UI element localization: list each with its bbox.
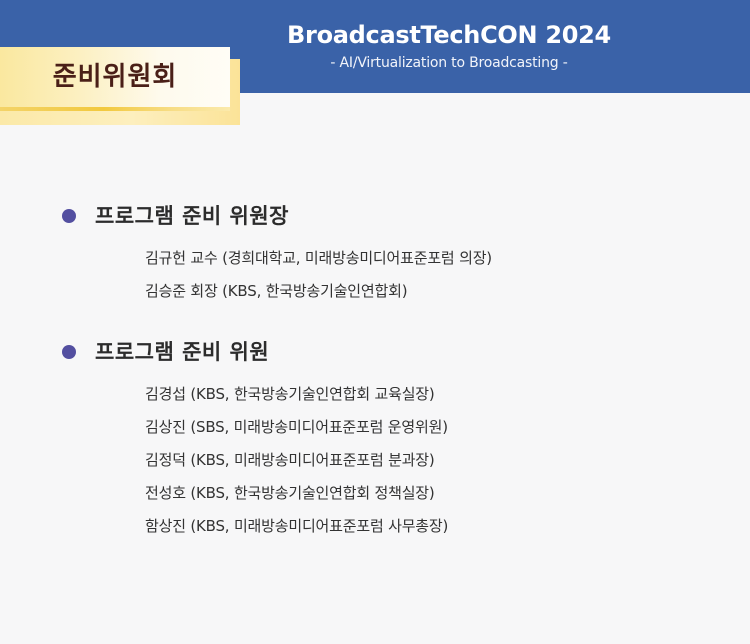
ribbon-label: 준비위원회 (53, 64, 178, 90)
section-header: 프로그램 준비 위원장 (0, 200, 750, 232)
committee-section: 프로그램 준비 위원 김경섭 (KBS, 한국방송기술인연합회 교육실장) 김상… (0, 336, 750, 543)
section-ribbon: 준비위원회 (0, 47, 240, 127)
list-item: 전성호 (KBS, 한국방송기술인연합회 정책실장) (145, 477, 750, 510)
committee-section: 프로그램 준비 위원장 김규헌 교수 (경희대학교, 미래방송미디어표준포럼 의… (0, 200, 750, 308)
conference-title: BroadcastTechCON 2024 (287, 22, 611, 48)
ribbon-main-panel: 준비위원회 (0, 47, 230, 107)
list-item: 김경섭 (KBS, 한국방송기술인연합회 교육실장) (145, 378, 750, 411)
section-title: 프로그램 준비 위원 (95, 342, 269, 363)
bullet-icon (62, 345, 76, 359)
member-list: 김경섭 (KBS, 한국방송기술인연합회 교육실장) 김상진 (SBS, 미래방… (0, 378, 750, 543)
list-item: 김규헌 교수 (경희대학교, 미래방송미디어표준포럼 의장) (145, 242, 750, 275)
member-list: 김규헌 교수 (경희대학교, 미래방송미디어표준포럼 의장) 김승준 회장 (K… (0, 242, 750, 308)
section-header: 프로그램 준비 위원 (0, 336, 750, 368)
header-title-group: BroadcastTechCON 2024 - AI/Virtualizatio… (170, 0, 750, 93)
list-item: 함상진 (KBS, 미래방송미디어표준포럼 사무총장) (145, 510, 750, 543)
list-item: 김승준 회장 (KBS, 한국방송기술인연합회) (145, 275, 750, 308)
section-title: 프로그램 준비 위원장 (95, 206, 289, 227)
list-item: 김상진 (SBS, 미래방송미디어표준포럼 운영위원) (145, 411, 750, 444)
bullet-icon (62, 209, 76, 223)
conference-subtitle: - AI/Virtualization to Broadcasting - (330, 55, 567, 71)
list-item: 김정덕 (KBS, 미래방송미디어표준포럼 분과장) (145, 444, 750, 477)
committee-content: 프로그램 준비 위원장 김규헌 교수 (경희대학교, 미래방송미디어표준포럼 의… (0, 200, 750, 571)
